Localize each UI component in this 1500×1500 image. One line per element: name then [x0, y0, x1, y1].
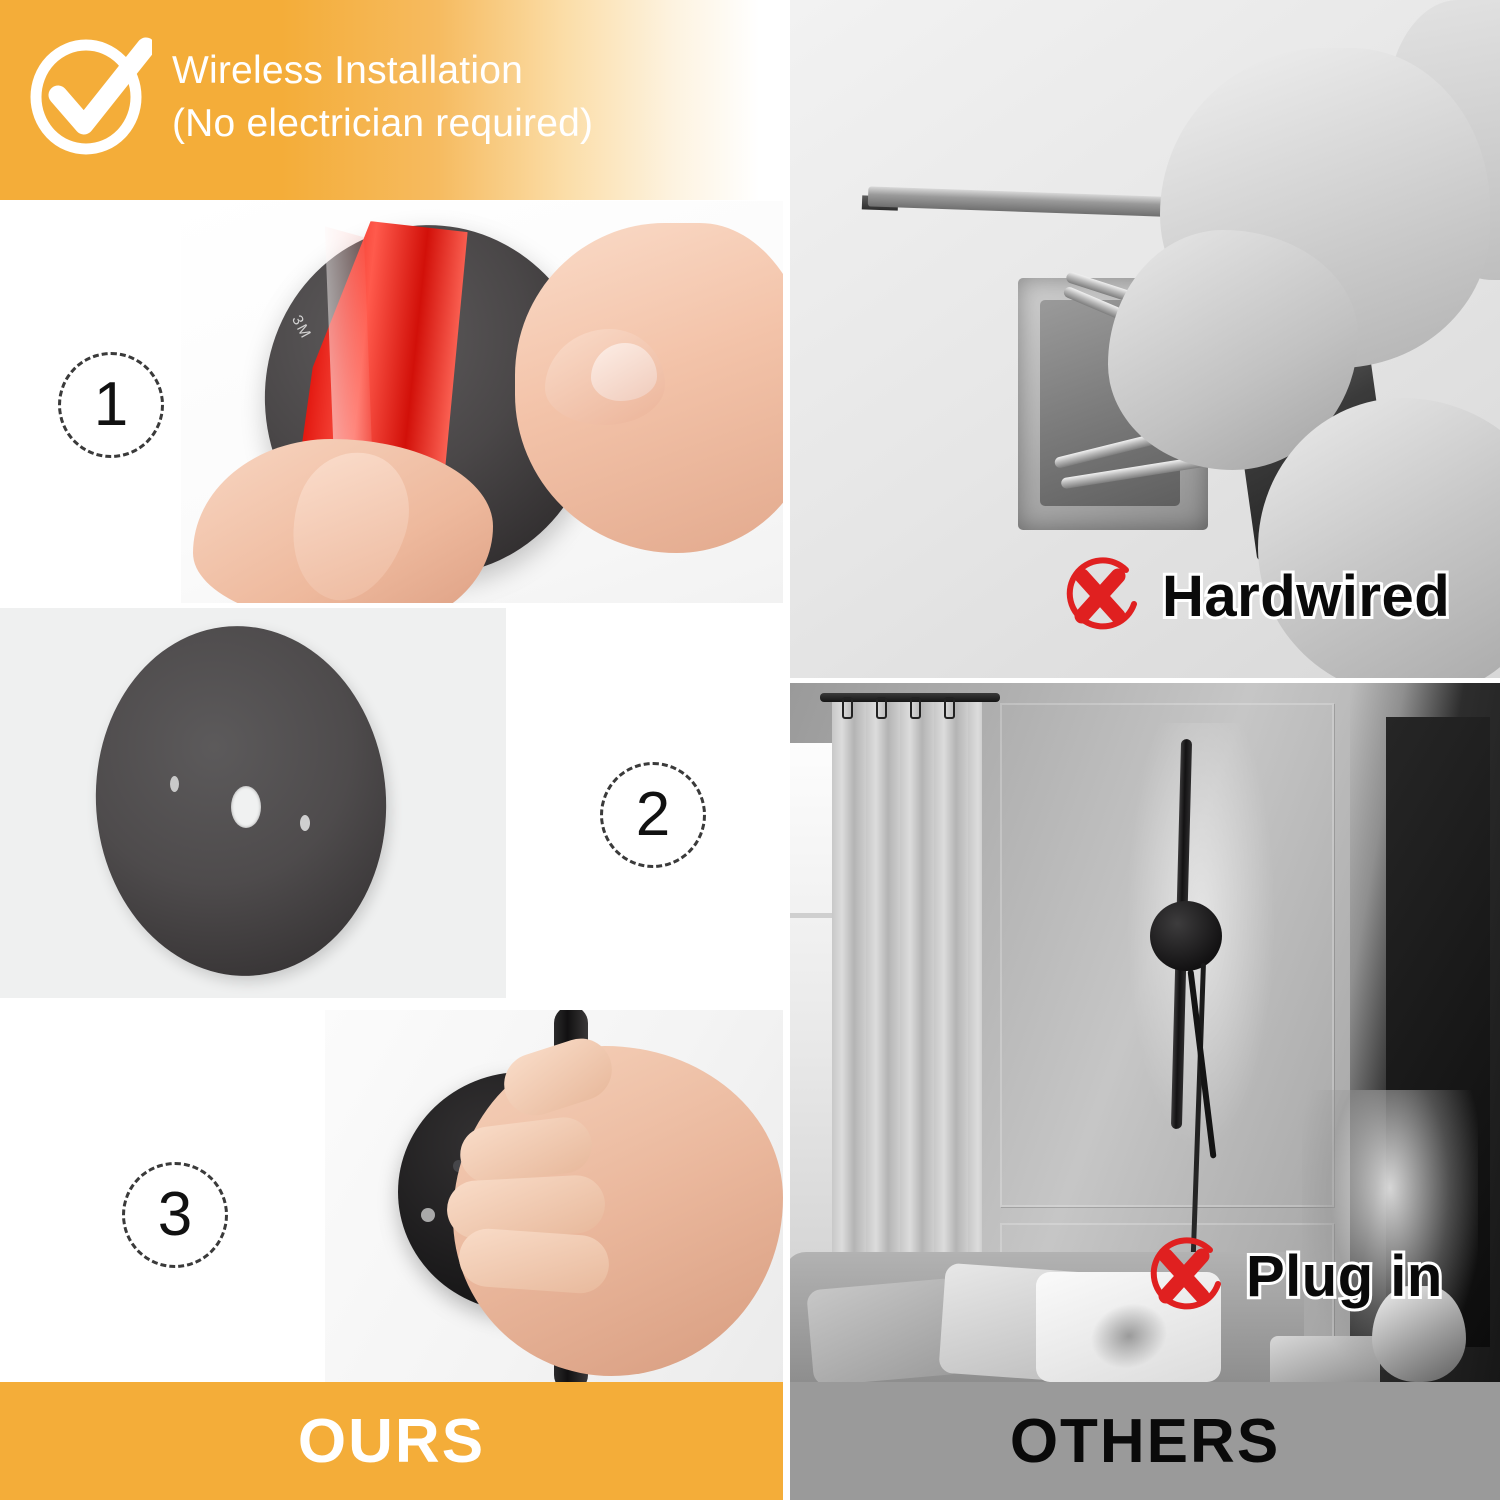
red-x-circle-icon	[1056, 552, 1144, 640]
header-text-block: Wireless Installation (No electrician re…	[172, 44, 593, 150]
curtain-ring	[944, 697, 955, 719]
curtain-ring	[910, 697, 921, 719]
base-screw-dot	[421, 1208, 435, 1222]
curtain	[832, 701, 982, 1341]
step-badge-1: 1	[58, 352, 164, 458]
step-number-1: 1	[94, 374, 128, 436]
others-footer-bar: OTHERS	[790, 1382, 1500, 1500]
red-x-circle-icon	[1140, 1232, 1228, 1320]
circle-check-icon	[28, 33, 152, 157]
ring-finger	[446, 1174, 607, 1240]
ours-label: OURS	[298, 1406, 485, 1477]
little-finger	[457, 1227, 611, 1295]
right-thumbnail	[591, 343, 657, 401]
infographic-canvas: Wireless Installation (No electrician re…	[0, 0, 1500, 1500]
plug-in-caption: Plug in	[1140, 1232, 1443, 1320]
header-line-2: (No electrician required)	[172, 97, 593, 150]
step-badge-2: 2	[600, 762, 706, 868]
window	[790, 743, 838, 1303]
step-badge-3: 3	[122, 1162, 228, 1268]
step-2-photo	[0, 608, 506, 998]
plate-screw-hole-left	[170, 776, 179, 792]
plate-center-hole	[231, 786, 261, 828]
window-mullion	[790, 913, 838, 918]
others-label: OTHERS	[1010, 1406, 1280, 1477]
plug-in-label: Plug in	[1246, 1243, 1443, 1310]
step-number-2: 2	[636, 784, 670, 846]
header-line-1: Wireless Installation	[172, 44, 593, 97]
plate-screw-hole-right	[300, 815, 310, 831]
ours-footer-bar: OURS	[0, 1382, 783, 1500]
curtain-ring	[842, 697, 853, 719]
hardwired-caption: Hardwired	[1056, 552, 1450, 640]
step-1-photo: 3M	[181, 201, 785, 603]
column-divider	[783, 0, 790, 1500]
step-3-photo	[325, 1010, 785, 1382]
sconce-wall-disc	[1150, 901, 1222, 971]
curtain-ring	[876, 697, 887, 719]
header-banner: Wireless Installation (No electrician re…	[0, 0, 783, 200]
hardwired-label: Hardwired	[1162, 563, 1450, 630]
step-number-3: 3	[158, 1184, 192, 1246]
